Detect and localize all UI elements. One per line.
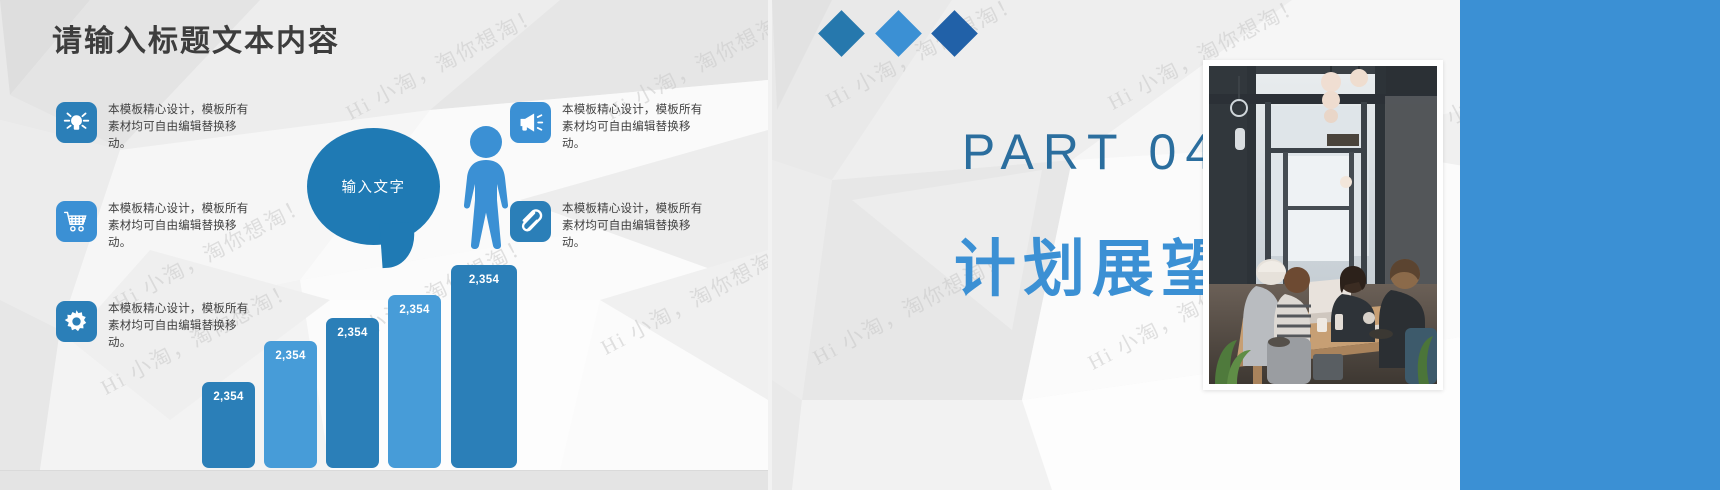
gear-icon [56,301,97,342]
feature-item-gear[interactable]: 本模板精心设计，模板所有素材均可自由编辑替换移动。 [56,301,254,352]
slide-right: Hi 小淘，淘你想淘！ Hi 小淘，淘你想淘！ Hi 小淘，淘你想淘！ Hi 小… [772,0,1720,490]
feature-item-lightbulb[interactable]: 本模板精心设计，模板所有素材均可自由编辑替换移动。 [56,102,254,153]
bar-2[interactable]: 2,354 [264,341,317,468]
bar-5[interactable]: 2,354 [451,265,517,468]
feature-text: 本模板精心设计，模板所有素材均可自由编辑替换移动。 [108,201,254,252]
bar-1[interactable]: 2,354 [202,382,255,468]
lightbulb-icon [56,102,97,143]
feature-item-link[interactable]: 本模板精心设计，模板所有素材均可自由编辑替换移动。 [510,201,708,252]
slide-bottom-strip [0,470,768,490]
feature-text: 本模板精心设计，模板所有素材均可自由编辑替换移动。 [108,301,254,352]
blue-side-panel [1460,0,1720,490]
feature-text: 本模板精心设计，模板所有素材均可自由编辑替换移动。 [562,201,708,252]
feature-item-megaphone[interactable]: 本模板精心设计，模板所有素材均可自由编辑替换移动。 [510,102,708,153]
speech-bubble-label: 输入文字 [307,128,440,245]
presentation-canvas: Hi 小淘，淘你想淘！ Hi 小淘，淘你想淘！ Hi 小淘，淘你想淘！ Hi 小… [0,0,1720,490]
speech-bubble[interactable]: 输入文字 [307,128,440,245]
feature-text: 本模板精心设计，模板所有素材均可自由编辑替换移动。 [562,102,708,153]
bar-value-label: 2,354 [275,350,305,362]
bar-value-label: 2,354 [399,304,429,316]
photo-frame[interactable] [1203,60,1443,390]
bar-value-label: 2,354 [469,274,499,286]
bar-value-label: 2,354 [213,391,243,403]
page-title: 请输入标题文本内容 [52,16,340,60]
person-figure-icon [455,122,517,270]
cafe-workspace-photo [1209,66,1437,384]
bar-value-label: 2,354 [337,327,367,339]
bar-3[interactable]: 2,354 [326,318,379,468]
bar-4[interactable]: 2,354 [388,295,441,468]
feature-item-cart[interactable]: 本模板精心设计，模板所有素材均可自由编辑替换移动。 [56,201,254,252]
slide-left: Hi 小淘，淘你想淘！ Hi 小淘，淘你想淘！ Hi 小淘，淘你想淘！ Hi 小… [0,0,768,490]
shopping-cart-icon [56,201,97,242]
feature-text: 本模板精心设计，模板所有素材均可自由编辑替换移动。 [108,102,254,153]
photo-illustration [1209,66,1437,384]
